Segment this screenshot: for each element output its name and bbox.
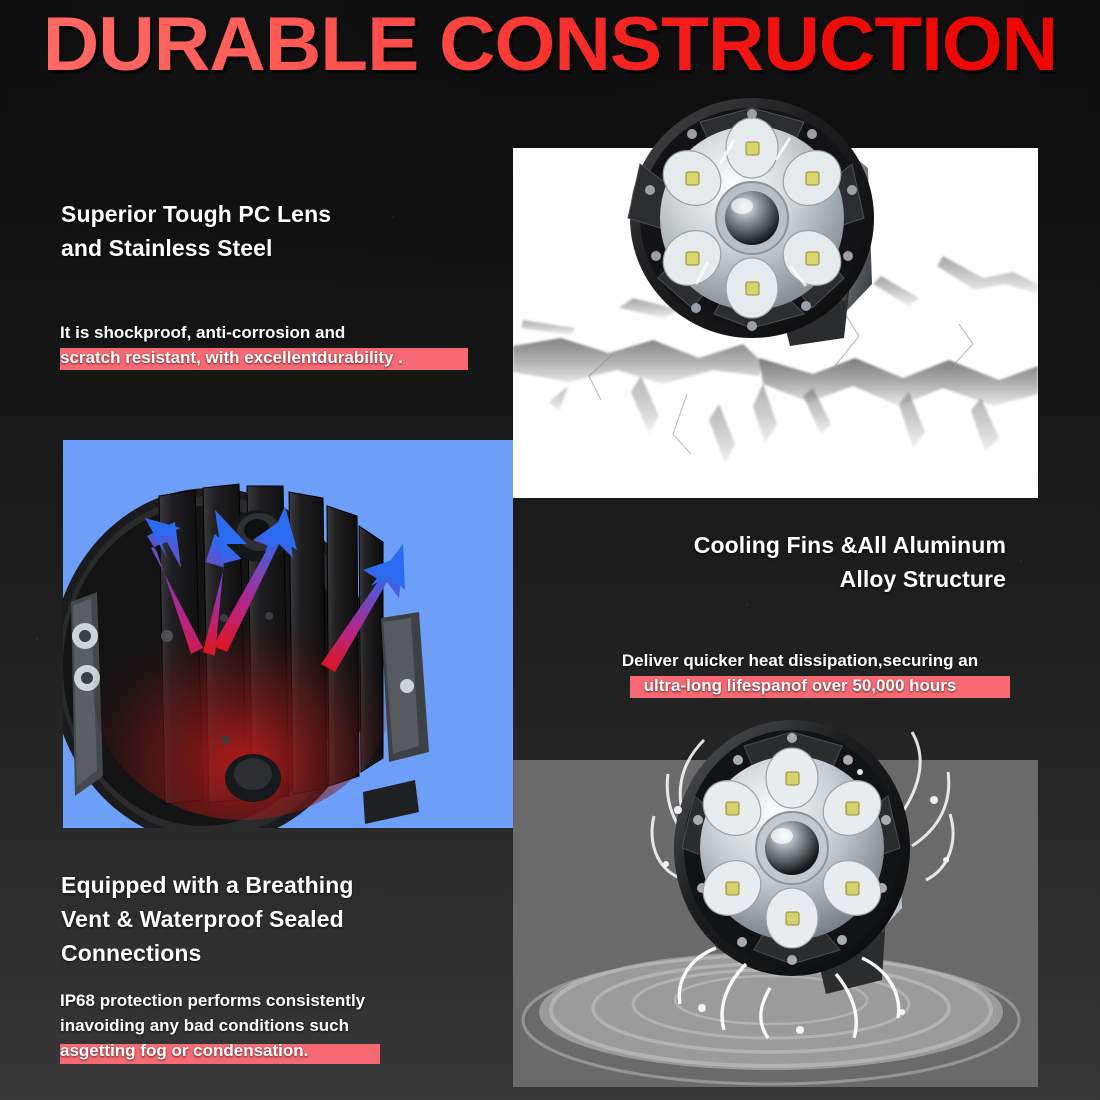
feature-3-heading-line-1: Equipped with a Breathing [61, 868, 354, 902]
feature-3-body-line-1: IP68 protection performs consistently [60, 988, 365, 1013]
feature-1-heading: Superior Tough PC Lens and Stainless Ste… [61, 197, 331, 265]
feature-3-body: IP68 protection performs consistently in… [60, 988, 365, 1063]
feature-3-heading: Equipped with a Breathing Vent & Waterpr… [61, 868, 354, 970]
background-speck [746, 604, 748, 606]
feature-1-body-line-2: scratch resistant, with excellentdurabil… [60, 345, 403, 370]
infographic-page: DURABLE CONSTRUCTION Superior Tough PC L… [0, 0, 1100, 1100]
product-photo-cooling-fins [63, 440, 513, 828]
background-speck [36, 638, 38, 640]
feature-2-heading-line-1: Cooling Fins &All Aluminum [676, 528, 1006, 562]
feature-2-heading-line-2: Alloy Structure [676, 562, 1006, 596]
feature-2-body-line-2: ultra-long lifespanof over 50,000 hours [590, 673, 1010, 698]
feature-3-heading-line-3: Connections [61, 936, 354, 970]
feature-3-body-line-3: asgetting fog or condensation. [60, 1038, 365, 1063]
product-photo-led-light-top [600, 94, 920, 384]
feature-2-heading: Cooling Fins &All Aluminum Alloy Structu… [676, 528, 1006, 596]
feature-3-heading-line-2: Vent & Waterproof Sealed [61, 902, 354, 936]
feature-1-heading-line-1: Superior Tough PC Lens [61, 197, 331, 231]
feature-2-body: Deliver quicker heat dissipation,securin… [590, 648, 1010, 698]
feature-1-body-line-1: It is shockproof, anti-corrosion and [60, 320, 403, 345]
feature-2-body-line-1: Deliver quicker heat dissipation,securin… [590, 648, 1010, 673]
feature-1-body: It is shockproof, anti-corrosion and scr… [60, 320, 403, 370]
background-speck [1020, 560, 1022, 562]
feature-3-body-line-2: inavoiding any bad conditions such [60, 1013, 365, 1038]
page-title: DURABLE CONSTRUCTION [0, 2, 1100, 88]
feature-1-heading-line-2: and Stainless Steel [61, 231, 331, 265]
background-speck [392, 216, 394, 218]
image-panel-cooling-fins [63, 440, 513, 828]
product-photo-led-light-water [650, 712, 950, 1042]
